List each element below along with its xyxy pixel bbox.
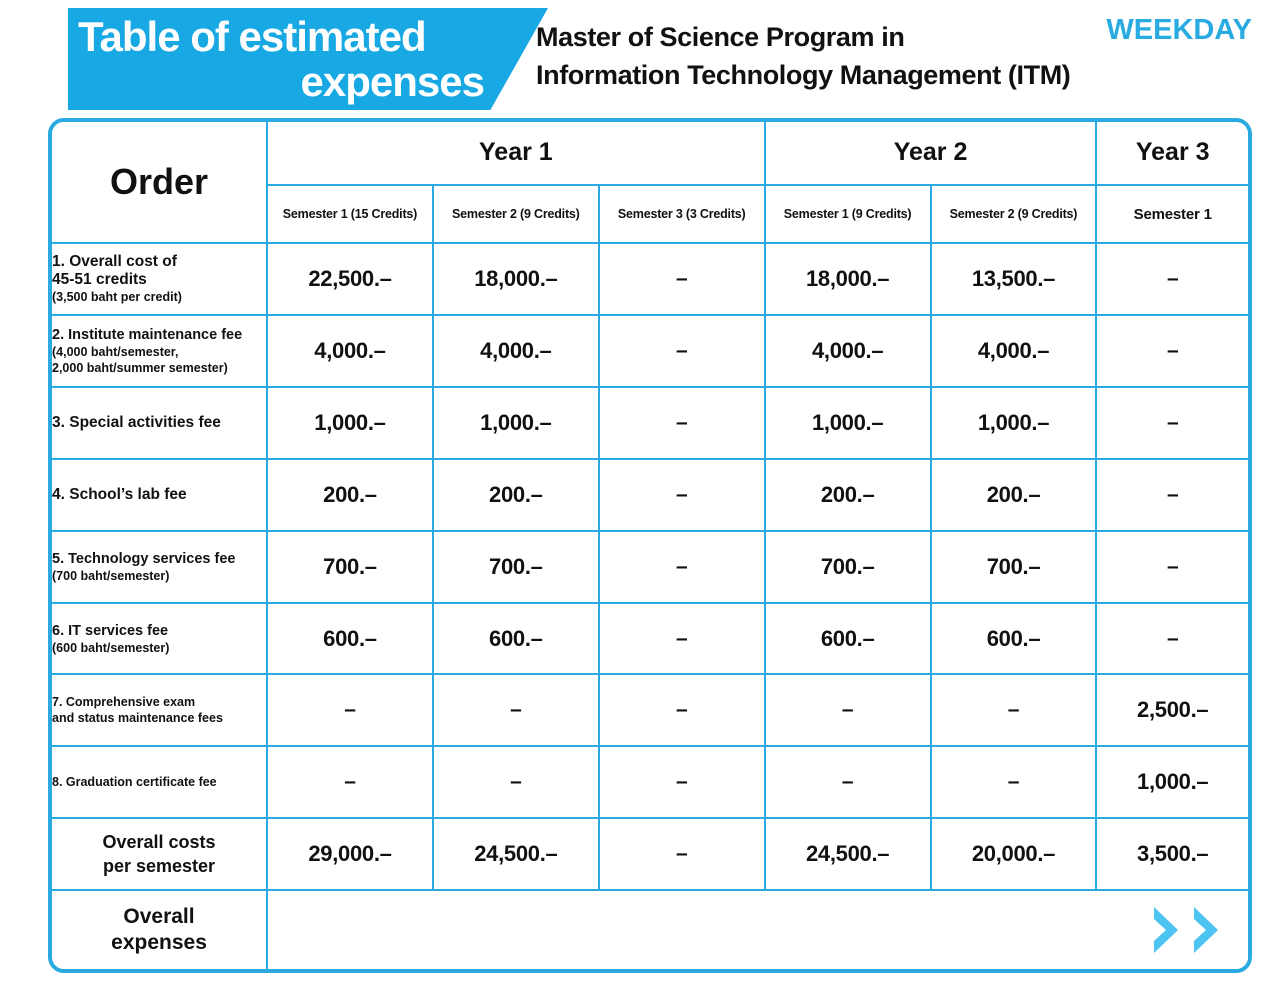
row-label-line: per semester xyxy=(52,854,266,878)
total-value: 24,500.– xyxy=(433,818,599,890)
cell-value: 4,000.– xyxy=(267,315,433,387)
cell-value: – xyxy=(599,387,765,459)
cell-value: 1,000.– xyxy=(931,387,1097,459)
program-title-line-2: Information Technology Management (ITM) xyxy=(536,56,1186,94)
cell-value: 4,000.– xyxy=(931,315,1097,387)
row-label-line: 4. School’s lab fee xyxy=(52,486,266,504)
cell-value: – xyxy=(1096,387,1248,459)
cell-value: – xyxy=(931,674,1097,746)
semester-header-y3s1: Semester 1 xyxy=(1096,185,1248,244)
table-header-row-years: Order Year 1 Year 2 Year 3 xyxy=(52,122,1248,185)
table-row-overall-expenses: Overall expenses 101,500 THB xyxy=(52,890,1248,969)
program-title: Master of Science Program in Information… xyxy=(536,18,1186,94)
row-label-overall-cost-credits: 1. Overall cost of 45-51 credits (3,500 … xyxy=(52,243,267,315)
cell-value: – xyxy=(599,243,765,315)
program-title-line-1: Master of Science Program in xyxy=(536,18,1186,56)
cell-value: – xyxy=(433,674,599,746)
table-row: 7. Comprehensive exam and status mainten… xyxy=(52,674,1248,746)
cell-value: – xyxy=(765,674,931,746)
row-label-line: 8. Graduation certificate fee xyxy=(52,774,266,790)
row-label-graduation-certificate-fee: 8. Graduation certificate fee xyxy=(52,746,267,818)
total-value: – xyxy=(599,818,765,890)
cell-value: 600.– xyxy=(433,603,599,675)
year-group-header-year-2: Year 2 xyxy=(765,122,1097,185)
cell-value: 600.– xyxy=(267,603,433,675)
table-row: 3. Special activities fee 1,000.– 1,000.… xyxy=(52,387,1248,459)
row-label-line: and status maintenance fees xyxy=(52,710,266,726)
cell-value: – xyxy=(1096,531,1248,603)
cell-value: – xyxy=(267,674,433,746)
table-row: 5. Technology services fee (700 baht/sem… xyxy=(52,531,1248,603)
cell-value: – xyxy=(1096,243,1248,315)
semester-header-y1s3: Semester 3 (3 Credits) xyxy=(599,185,765,244)
estimated-expenses-table: Order Year 1 Year 2 Year 3 Semester 1 (1… xyxy=(52,122,1248,969)
row-label-line: Overall xyxy=(52,904,266,930)
cell-value: 200.– xyxy=(931,459,1097,531)
cell-value: – xyxy=(1096,315,1248,387)
cell-value: 1,000.– xyxy=(1096,746,1248,818)
table-row: 4. School’s lab fee 200.– 200.– – 200.– … xyxy=(52,459,1248,531)
year-group-header-year-1: Year 1 xyxy=(267,122,765,185)
table-row: 1. Overall cost of 45-51 credits (3,500 … xyxy=(52,243,1248,315)
cell-value: 700.– xyxy=(765,531,931,603)
cell-value: – xyxy=(599,603,765,675)
row-label-overall-expenses: Overall expenses xyxy=(52,890,267,969)
cell-value: 18,000.– xyxy=(765,243,931,315)
row-label-special-activities-fee: 3. Special activities fee xyxy=(52,387,267,459)
year-group-header-year-3: Year 3 xyxy=(1096,122,1248,185)
row-label-line: 2. Institute maintenance fee xyxy=(52,326,266,344)
cell-value: – xyxy=(1096,603,1248,675)
row-sublabel-line: (700 baht/semester) xyxy=(52,568,266,584)
title-banner-line-2: expenses xyxy=(78,59,496,104)
cell-value: – xyxy=(599,746,765,818)
row-label-line: 3. Special activities fee xyxy=(52,414,266,432)
title-banner: Table of estimated expenses xyxy=(68,8,548,110)
table-row: 2. Institute maintenance fee (4,000 baht… xyxy=(52,315,1248,387)
row-label-line: 6. IT services fee xyxy=(52,622,266,640)
cell-value: – xyxy=(433,746,599,818)
cell-value: 2,500.– xyxy=(1096,674,1248,746)
table-row: 8. Graduation certificate fee – – – – – … xyxy=(52,746,1248,818)
cell-value: 200.– xyxy=(765,459,931,531)
row-label-line: Overall costs xyxy=(52,830,266,854)
cell-value: – xyxy=(599,315,765,387)
total-value: 20,000.– xyxy=(931,818,1097,890)
semester-header-y2s2: Semester 2 (9 Credits) xyxy=(931,185,1097,244)
cell-value: – xyxy=(599,674,765,746)
cell-value: 4,000.– xyxy=(433,315,599,387)
cell-value: 200.– xyxy=(267,459,433,531)
weekday-badge: WEEKDAY xyxy=(1106,14,1252,47)
row-sublabel-line: (3,500 baht per credit) xyxy=(52,289,266,305)
cell-value: 13,500.– xyxy=(931,243,1097,315)
cell-value: 1,000.– xyxy=(433,387,599,459)
row-sublabel-line: 2,000 baht/summer semester) xyxy=(52,360,266,376)
row-label-line: 7. Comprehensive exam xyxy=(52,694,266,710)
table-row-totals: Overall costs per semester 29,000.– 24,5… xyxy=(52,818,1248,890)
row-label-overall-costs-per-semester: Overall costs per semester xyxy=(52,818,267,890)
title-banner-line-1: Table of estimated xyxy=(78,14,496,59)
row-label-school-lab-fee: 4. School’s lab fee xyxy=(52,459,267,531)
order-column-header: Order xyxy=(52,122,267,243)
total-value: 3,500.– xyxy=(1096,818,1248,890)
cell-value: – xyxy=(267,746,433,818)
cell-value: 1,000.– xyxy=(765,387,931,459)
cell-value: 700.– xyxy=(931,531,1097,603)
fee-table-container: Order Year 1 Year 2 Year 3 Semester 1 (1… xyxy=(48,118,1252,973)
cell-value: 600.– xyxy=(765,603,931,675)
overall-expenses-band: 101,500 THB xyxy=(267,890,1248,969)
cell-value: – xyxy=(599,531,765,603)
cell-value: 700.– xyxy=(433,531,599,603)
total-value: 29,000.– xyxy=(267,818,433,890)
row-sublabel-line: (4,000 baht/semester, xyxy=(52,344,266,360)
row-label-comprehensive-exam-fee: 7. Comprehensive exam and status mainten… xyxy=(52,674,267,746)
cell-value: 4,000.– xyxy=(765,315,931,387)
row-label-line: 5. Technology services fee xyxy=(52,550,266,568)
row-label-institute-maintenance-fee: 2. Institute maintenance fee (4,000 baht… xyxy=(52,315,267,387)
row-label-line: 45-51 credits xyxy=(52,271,266,289)
table-row: 6. IT services fee (600 baht/semester) 6… xyxy=(52,603,1248,675)
cell-value: 1,000.– xyxy=(267,387,433,459)
row-label-technology-services-fee: 5. Technology services fee (700 baht/sem… xyxy=(52,531,267,603)
row-label-it-services-fee: 6. IT services fee (600 baht/semester) xyxy=(52,603,267,675)
semester-header-y1s1: Semester 1 (15 Credits) xyxy=(267,185,433,244)
cell-value: – xyxy=(599,459,765,531)
row-label-line: expenses xyxy=(52,930,266,956)
row-sublabel-line: (600 baht/semester) xyxy=(52,640,266,656)
cell-value: 600.– xyxy=(931,603,1097,675)
cell-value: 18,000.– xyxy=(433,243,599,315)
cell-value: 200.– xyxy=(433,459,599,531)
cell-value: 22,500.– xyxy=(267,243,433,315)
cell-value: – xyxy=(931,746,1097,818)
semester-header-y2s1: Semester 1 (9 Credits) xyxy=(765,185,931,244)
semester-header-y1s2: Semester 2 (9 Credits) xyxy=(433,185,599,244)
overall-expenses-amount: 101,500 THB xyxy=(268,906,1248,954)
total-value: 24,500.– xyxy=(765,818,931,890)
cell-value: – xyxy=(1096,459,1248,531)
cell-value: 700.– xyxy=(267,531,433,603)
row-label-line: 1. Overall cost of xyxy=(52,253,266,271)
page-header: Table of estimated expenses Master of Sc… xyxy=(0,0,1280,118)
cell-value: – xyxy=(765,746,931,818)
